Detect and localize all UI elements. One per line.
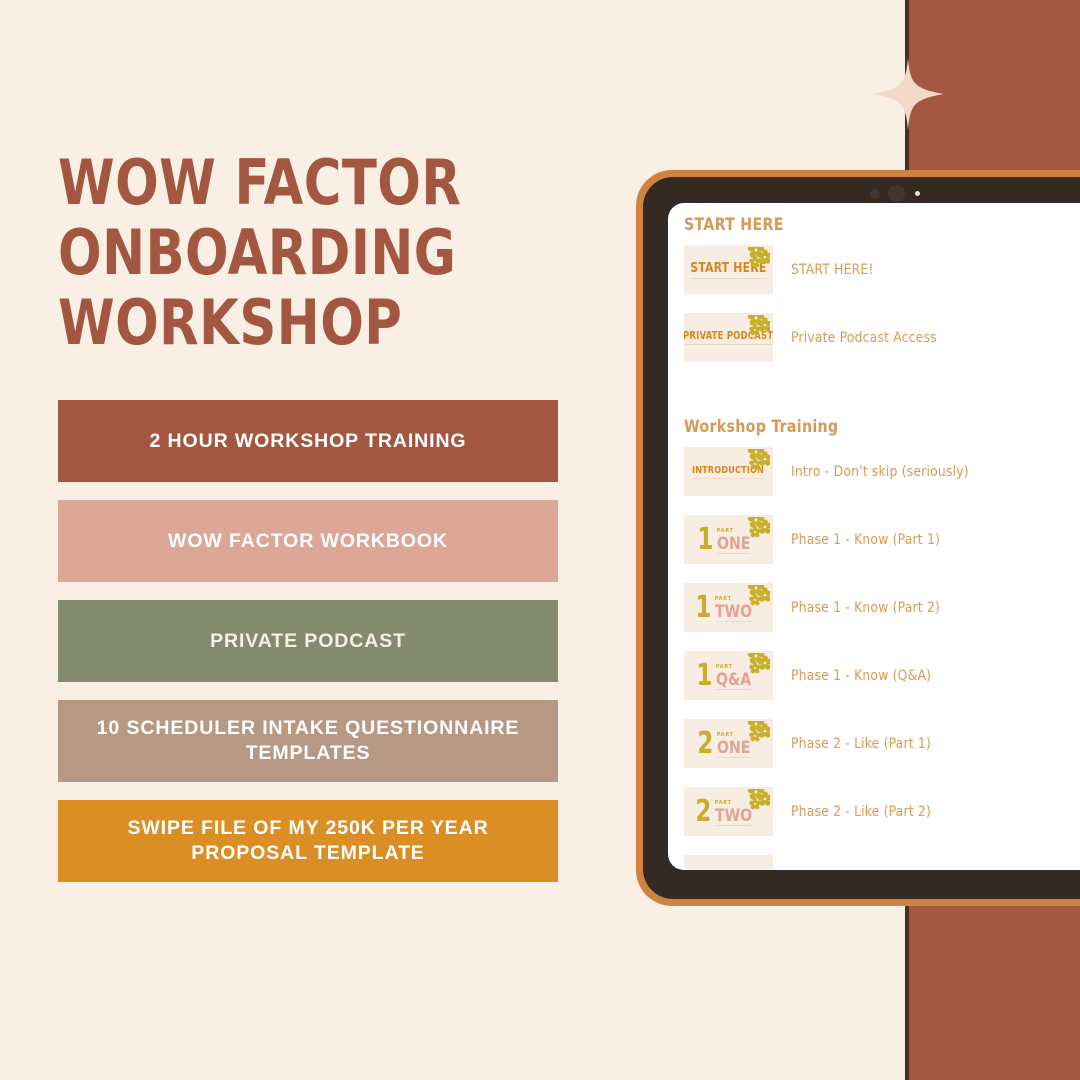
course-item-title: Phase 1 - Know (Part 1) <box>791 532 940 548</box>
course-item-phase-2-part-1[interactable]: 2 PART ONE <box>684 719 1080 768</box>
camera-lens-icon <box>870 189 880 199</box>
thumbnail-word: TWO <box>715 603 752 622</box>
course-item-thumbnail[interactable]: INTRODUCTION <box>684 447 773 496</box>
section-spacer <box>684 381 1080 417</box>
thumbnail-label: PRIVATE PODCAST <box>684 330 773 345</box>
course-content-scroll[interactable]: START HERE START HERE <box>668 203 1080 870</box>
course-item-thumbnail[interactable]: 1 PART TWO <box>684 583 773 632</box>
course-item-title: Phase 1 - Know (Part 2) <box>791 600 940 616</box>
feature-bar-scheduler-intake-templates: 10 SCHEDULER INTAKE QUESTIONNAIRE TEMPLA… <box>58 700 558 782</box>
page-title-line-2: ONBOARDING <box>58 218 518 288</box>
feature-bar-list: 2 HOUR WORKSHOP TRAINING WOW FACTOR WORK… <box>58 400 558 882</box>
thumbnail-word: ONE <box>717 535 750 554</box>
camera-sensor-cluster <box>870 184 990 204</box>
feature-bar-label: 10 SCHEDULER INTAKE QUESTIONNAIRE TEMPLA… <box>76 716 540 766</box>
course-item-private-podcast-access[interactable]: PRIVATE PODCAST <box>684 313 1080 362</box>
page-title-line-1: WOW FACTOR <box>58 148 518 218</box>
course-item-thumbnail[interactable]: START HERE <box>684 245 773 294</box>
thumbnail-number: 1 <box>696 662 712 690</box>
thumbnail-number: 1 <box>695 594 711 622</box>
page-title-line-3: WORKSHOP <box>58 288 518 358</box>
tablet-device-mockup: START HERE START HERE <box>636 170 1080 906</box>
feature-bar-workshop-training: 2 HOUR WORKSHOP TRAINING <box>58 400 558 482</box>
course-item-title: Phase 2 - Like (Part 1) <box>791 736 931 752</box>
camera-lens-icon <box>888 185 905 202</box>
thumbnail-label: INTRODUCTION <box>692 465 764 479</box>
course-item-title: Phase 2 - Like (Part 2) <box>791 804 931 820</box>
course-item-title: Private Podcast Access <box>791 330 937 346</box>
thumbnail-label: START HERE <box>690 260 766 279</box>
course-item-title: Intro - Don't skip (seriously) <box>791 464 969 480</box>
course-item-phase-1-part-1[interactable]: 1 PART ONE <box>684 515 1080 564</box>
course-item-title: START HERE! <box>791 262 874 278</box>
course-item-start-here[interactable]: START HERE <box>684 245 1080 294</box>
course-item-thumbnail[interactable]: 1 PART ONE <box>684 515 773 564</box>
section-heading-start-here: START HERE <box>684 215 1060 235</box>
course-item-phase-1-qa[interactable]: 1 PART Q&A <box>684 651 1080 700</box>
feature-bar-wow-factor-workbook: WOW FACTOR WORKBOOK <box>58 500 558 582</box>
page-title: WOW FACTOR ONBOARDING WORKSHOP <box>58 148 518 358</box>
course-item-intro[interactable]: INTRODUCTION <box>684 447 1080 496</box>
camera-indicator-icon <box>915 191 920 196</box>
feature-bar-label: PRIVATE PODCAST <box>210 629 406 654</box>
thumbnail-number: 1 <box>697 526 713 554</box>
thumbnail-word: TWO <box>715 807 752 826</box>
course-item-thumbnail[interactable]: 2 PART ONE <box>684 719 773 768</box>
course-item-next-partial[interactable] <box>684 855 1080 869</box>
feature-bar-label: WOW FACTOR WORKBOOK <box>168 529 448 554</box>
course-item-thumbnail[interactable]: 2 PART TWO <box>684 787 773 836</box>
course-item-phase-1-part-2[interactable]: 1 PART TWO <box>684 583 1080 632</box>
course-item-title: Phase 1 - Know (Q&A) <box>791 668 931 684</box>
feature-bar-private-podcast: PRIVATE PODCAST <box>58 600 558 682</box>
feature-bar-label: SWIPE FILE OF MY 250K PER YEAR PROPOSAL … <box>76 816 540 866</box>
course-item-thumbnail[interactable]: PRIVATE PODCAST <box>684 313 773 362</box>
thumbnail-number: 2 <box>695 798 711 826</box>
thumbnail-word: ONE <box>717 739 750 758</box>
thumbnail-number: 2 <box>697 730 713 758</box>
course-item-phase-2-part-2[interactable]: 2 PART TWO <box>684 787 1080 836</box>
course-item-thumbnail[interactable]: 1 PART Q&A <box>684 651 773 700</box>
feature-bar-proposal-template-swipe-file: SWIPE FILE OF MY 250K PER YEAR PROPOSAL … <box>58 800 558 882</box>
course-item-thumbnail[interactable] <box>684 855 773 869</box>
promo-column: WOW FACTOR ONBOARDING WORKSHOP 2 HOUR WO… <box>58 0 564 1080</box>
feature-bar-label: 2 HOUR WORKSHOP TRAINING <box>149 429 466 454</box>
tablet-screen: START HERE START HERE <box>668 203 1080 870</box>
section-heading-workshop-training: Workshop Training <box>684 417 1060 437</box>
thumbnail-word: Q&A <box>716 671 751 690</box>
